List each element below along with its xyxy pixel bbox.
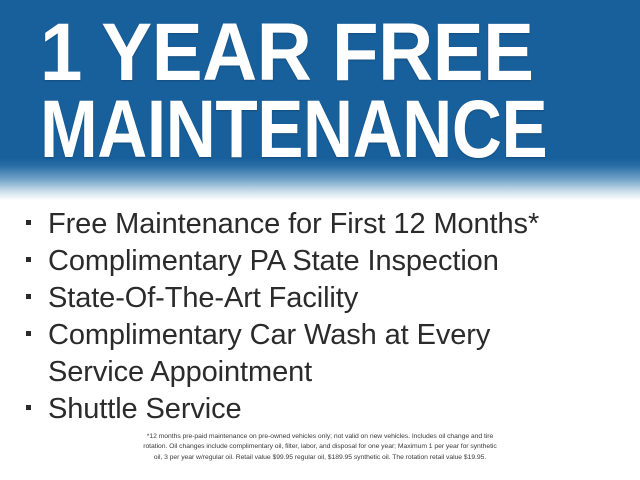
offer-text: Complimentary Car Wash at Every	[48, 317, 626, 354]
promo-advertisement: 1 YEAR FREE MAINTENANCE Free Maintenance…	[0, 0, 640, 480]
list-item: Complimentary PA State Inspection	[26, 243, 626, 280]
banner-headline-block: 1 YEAR FREE MAINTENANCE	[40, 14, 620, 170]
bullet-square-icon	[26, 391, 48, 410]
list-item-continuation: Service Appointment	[26, 354, 626, 391]
disclaimer-line-2: rotation. Oil changes include compliment…	[0, 442, 640, 452]
offer-text: Shuttle Service	[48, 391, 626, 428]
list-item: Shuttle Service	[26, 391, 626, 428]
offer-text-wrapped: Service Appointment	[48, 354, 626, 391]
offer-list: Free Maintenance for First 12 Months* Co…	[26, 206, 626, 428]
disclaimer-line-1: *12 months pre-paid maintenance on pre-o…	[0, 432, 640, 442]
offer-text: Free Maintenance for First 12 Months*	[48, 206, 626, 243]
disclaimer-fine-print: *12 months pre-paid maintenance on pre-o…	[0, 432, 640, 463]
list-item: Free Maintenance for First 12 Months*	[26, 206, 626, 243]
bullet-square-icon	[26, 317, 48, 336]
header-banner: 1 YEAR FREE MAINTENANCE	[0, 0, 640, 200]
bullet-square-icon	[26, 206, 48, 225]
bullet-spacer	[26, 354, 48, 368]
headline-line-1: 1 YEAR FREE	[40, 14, 579, 92]
headline-line-2: MAINTENANCE	[40, 90, 530, 170]
offer-text: State-Of-The-Art Facility	[48, 280, 626, 317]
list-item: State-Of-The-Art Facility	[26, 280, 626, 317]
disclaimer-line-3: oil, 3 per year w/regular oil. Retail va…	[0, 453, 640, 463]
bullet-square-icon	[26, 280, 48, 299]
list-item: Complimentary Car Wash at Every	[26, 317, 626, 354]
offer-text: Complimentary PA State Inspection	[48, 243, 626, 280]
bullet-square-icon	[26, 243, 48, 262]
